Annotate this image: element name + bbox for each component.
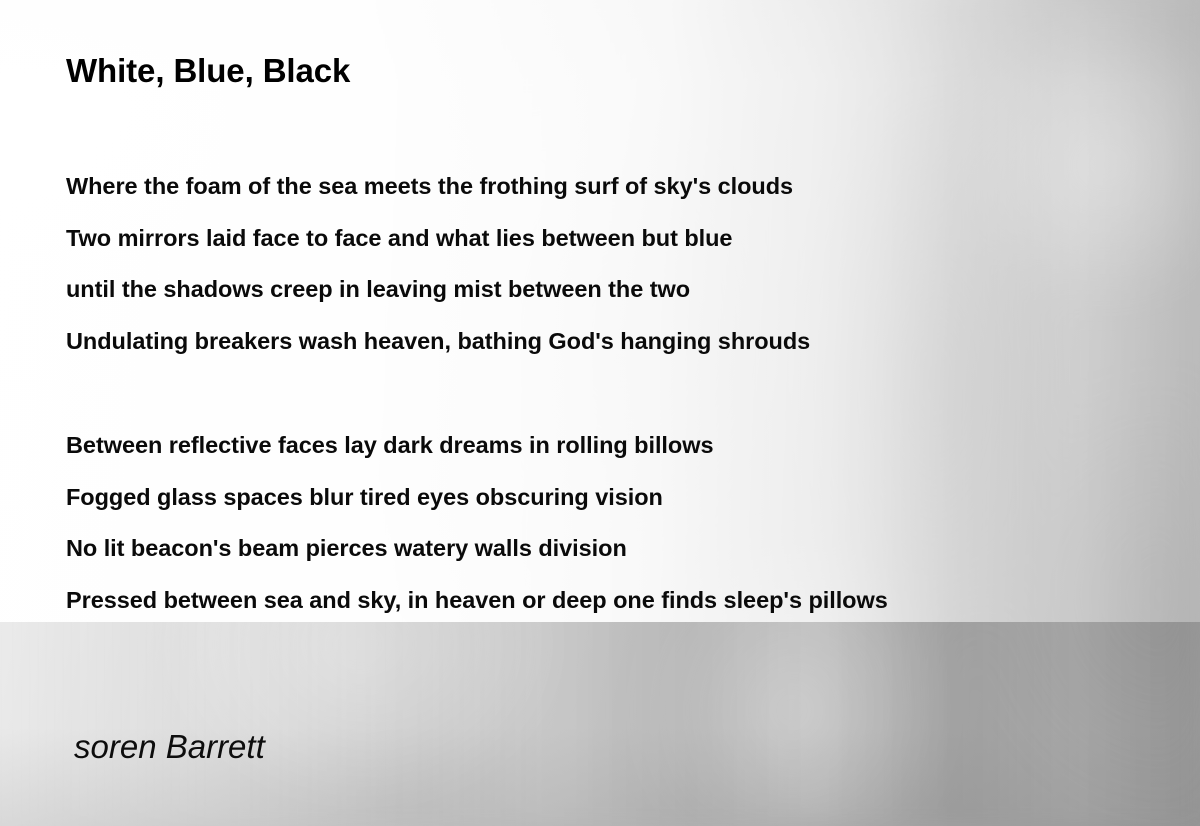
poem-title: White, Blue, Black: [66, 52, 350, 90]
poem-line: No lit beacon's beam pierces watery wall…: [66, 523, 1200, 575]
poem-line: Pressed between sea and sky, in heaven o…: [66, 575, 1200, 627]
poem-line: Fogged glass spaces blur tired eyes obsc…: [66, 472, 1200, 524]
poem-image-card: White, Blue, Black Where the foam of the…: [0, 0, 1200, 826]
poem-line: Undulating breakers wash heaven, bathing…: [66, 316, 1200, 368]
poem-line: Where the foam of the sea meets the frot…: [66, 161, 1200, 213]
poem-line: Two mirrors laid face to face and what l…: [66, 213, 1200, 265]
poem-stanza-2: Between reflective faces lay dark dreams…: [66, 420, 1200, 626]
poem-line: until the shadows creep in leaving mist …: [66, 264, 1200, 316]
poem-stanza-1: Where the foam of the sea meets the frot…: [66, 161, 1200, 367]
poem-line: Between reflective faces lay dark dreams…: [66, 420, 1200, 472]
poem-text-panel: White, Blue, Black Where the foam of the…: [0, 0, 1200, 622]
poem-content: White, Blue, Black Where the foam of the…: [66, 0, 1200, 622]
author-name: soren Barrett: [74, 728, 265, 766]
